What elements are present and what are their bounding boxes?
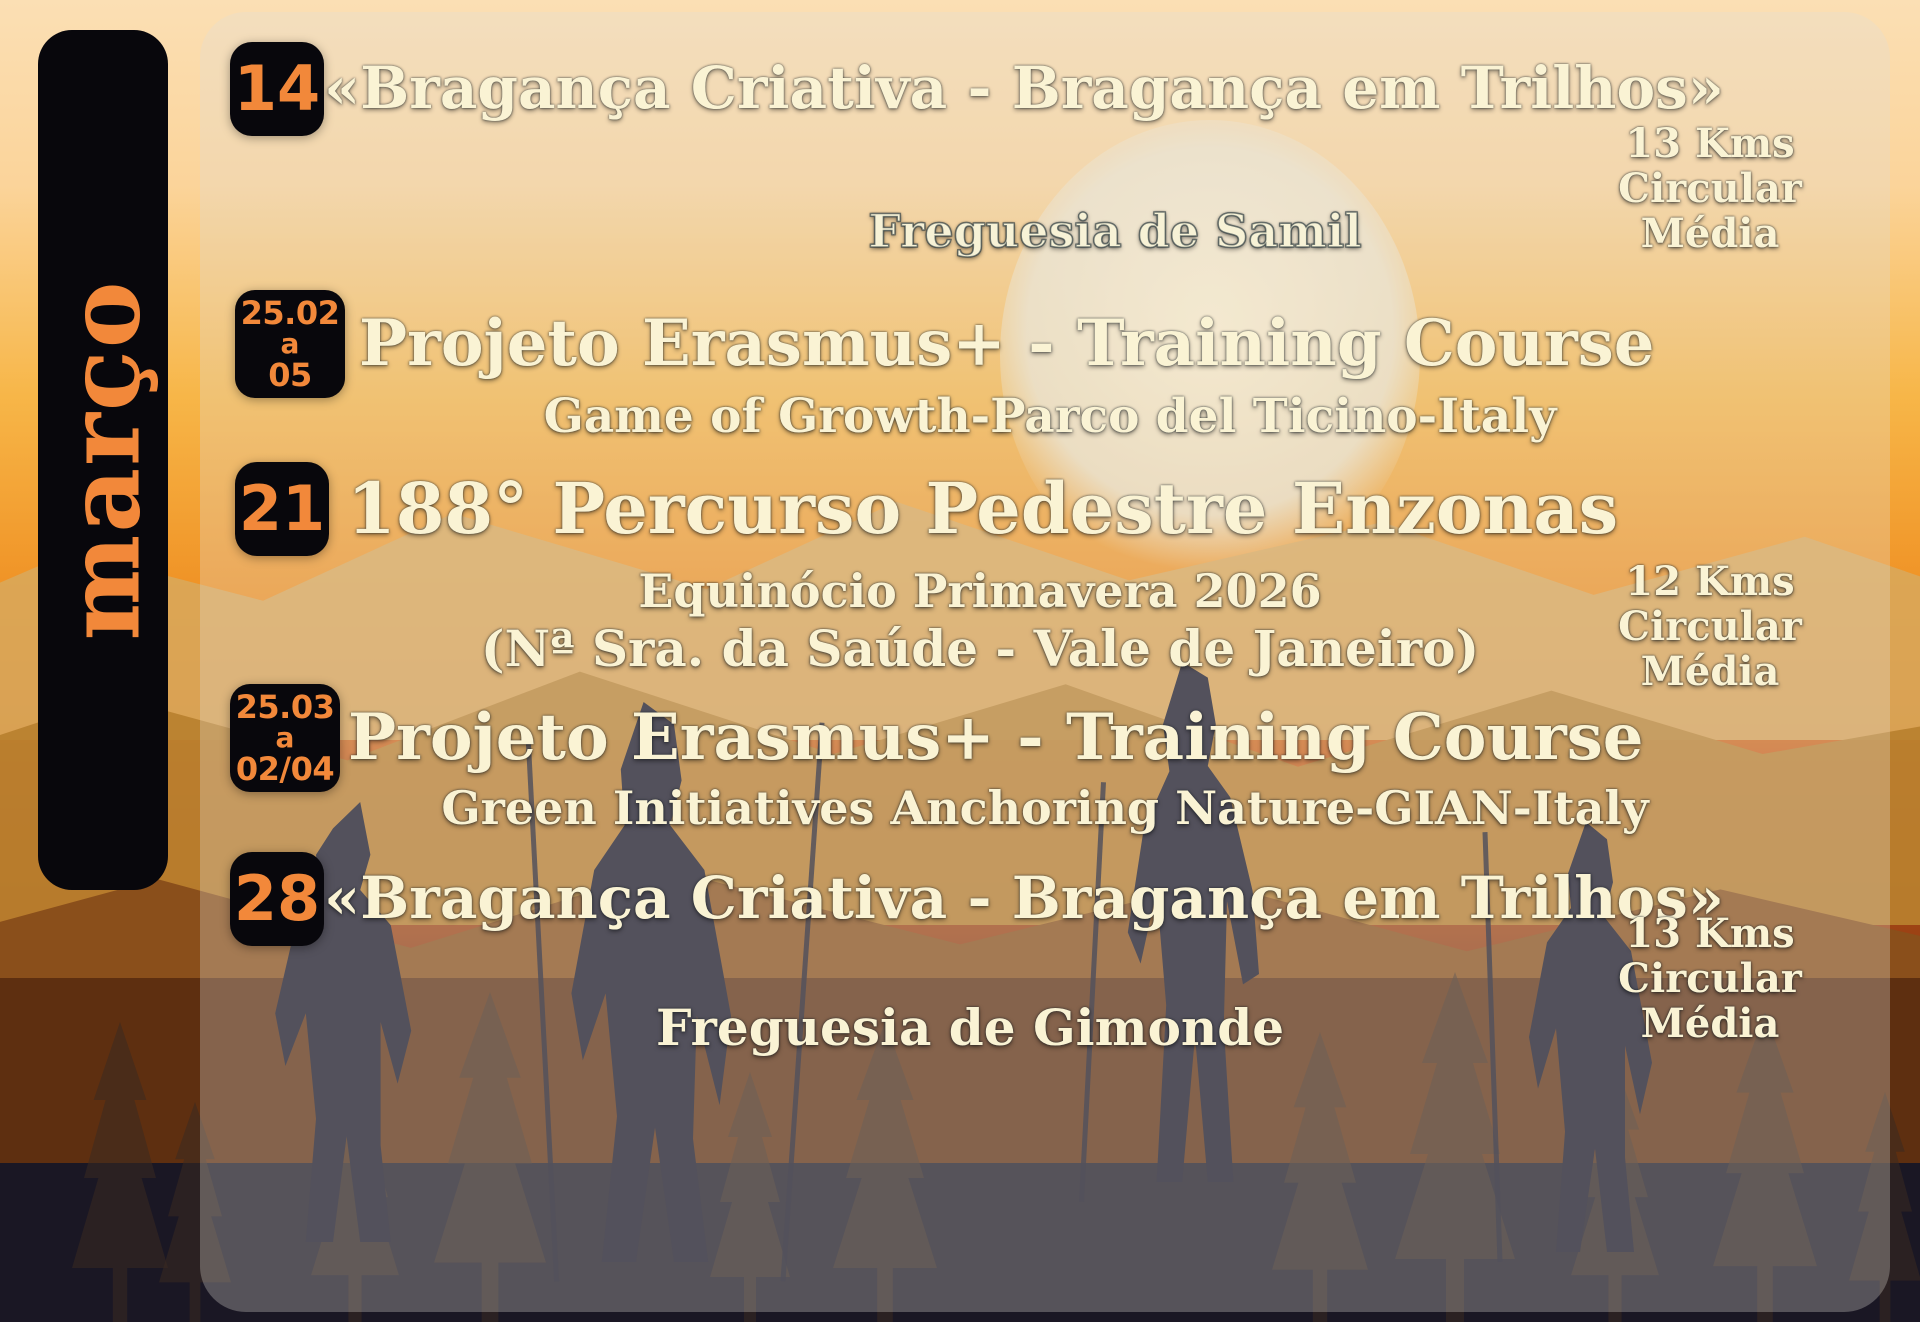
date-badge-separator: a <box>276 724 295 752</box>
month-rail: março <box>38 30 168 890</box>
date-badge-separator: a <box>281 330 300 358</box>
date-badge-28[interactable]: 28 <box>230 852 324 946</box>
event-subtitle-2502-wrap: Game of Growth-Parco del Ticino-Italy <box>350 392 1750 441</box>
meta-distance: 13 Kms <box>1560 912 1860 957</box>
event-title: Projeto Erasmus+ - Training Course <box>348 705 1643 770</box>
date-badge-day: 21 <box>239 478 325 540</box>
event-item-14[interactable]: 14 «Bragança Criativa - Bragança em Tril… <box>230 42 1724 136</box>
meta-shape: Circular <box>1560 167 1860 212</box>
date-badge-14[interactable]: 14 <box>230 42 324 136</box>
meta-shape: Circular <box>1560 957 1860 1002</box>
meta-shape: Circular <box>1560 605 1860 650</box>
month-label: março <box>44 280 162 641</box>
event-subtitle-14-wrap: Freguesia de Samil <box>600 207 1630 255</box>
event-subtitle-21-wrap: Equinócio Primavera 2026 (Nª Sra. da Saú… <box>400 567 1560 676</box>
date-badge-end: 05 <box>268 359 312 391</box>
event-title: 188° Percurso Pedestre Enzonas <box>347 473 1618 544</box>
event-meta-21: 12 Kms Circular Média <box>1560 560 1860 694</box>
event-subtitle: Freguesia de Gimonde <box>440 1002 1500 1055</box>
event-item-21[interactable]: 21 188° Percurso Pedestre Enzonas <box>235 462 1618 556</box>
event-item-2503[interactable]: 25.03 a 02/04 Projeto Erasmus+ - Trainin… <box>230 684 1643 792</box>
date-badge-2502[interactable]: 25.02 a 05 <box>235 290 345 398</box>
event-subtitle: Game of Growth-Parco del Ticino-Italy <box>350 392 1750 441</box>
date-badge-day: 28 <box>234 868 320 930</box>
event-meta-28: 13 Kms Circular Média <box>1560 912 1860 1046</box>
date-badge-2503[interactable]: 25.03 a 02/04 <box>230 684 340 792</box>
date-badge-day: 14 <box>234 58 320 120</box>
meta-difficulty: Média <box>1560 212 1860 257</box>
meta-difficulty: Média <box>1560 1002 1860 1047</box>
meta-distance: 13 Kms <box>1560 122 1860 167</box>
date-badge-end: 02/04 <box>236 753 334 785</box>
event-subtitle-2503-wrap: Green Initiatives Anchoring Nature-GIAN-… <box>330 784 1760 832</box>
date-badge-start: 25.02 <box>241 297 340 329</box>
event-title: «Bragança Criativa - Bragança em Trilhos… <box>324 869 1724 928</box>
event-item-28[interactable]: 28 «Bragança Criativa - Bragança em Tril… <box>230 852 1724 946</box>
event-title: «Bragança Criativa - Bragança em Trilhos… <box>324 59 1724 118</box>
date-badge-start: 25.03 <box>236 691 335 723</box>
event-subtitle-secondary: (Nª Sra. da Saúde - Vale de Janeiro) <box>400 623 1560 676</box>
date-badge-21[interactable]: 21 <box>235 462 329 556</box>
meta-distance: 12 Kms <box>1560 560 1860 605</box>
events-list: 14 «Bragança Criativa - Bragança em Tril… <box>200 12 1890 1312</box>
event-subtitle: Equinócio Primavera 2026 <box>400 567 1560 615</box>
event-title: Projeto Erasmus+ - Training Course <box>359 311 1654 376</box>
event-meta-14: 13 Kms Circular Média <box>1560 122 1860 256</box>
event-subtitle-28-wrap: Freguesia de Gimonde <box>440 1002 1500 1055</box>
event-subtitle: Green Initiatives Anchoring Nature-GIAN-… <box>330 784 1760 832</box>
event-item-2502[interactable]: 25.02 a 05 Projeto Erasmus+ - Training C… <box>235 290 1654 398</box>
event-subtitle: Freguesia de Samil <box>600 207 1630 255</box>
